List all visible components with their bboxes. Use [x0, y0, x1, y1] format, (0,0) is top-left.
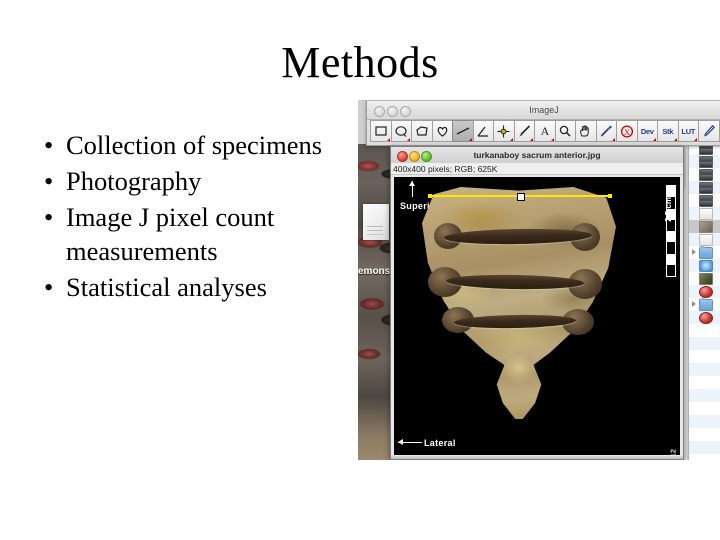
line-handle-end[interactable]	[608, 194, 612, 198]
page-title: Methods	[0, 38, 720, 88]
document-file-icon	[699, 208, 713, 220]
list-item-label: Collection of specimens	[66, 130, 322, 160]
straight-line-tool[interactable]	[452, 120, 474, 142]
lut-tool-label: LUT	[681, 127, 695, 136]
bullet-marker-icon: •	[44, 164, 53, 198]
list-item[interactable]	[691, 285, 719, 298]
imagej-titlebar[interactable]: ImageJ	[367, 101, 720, 120]
image-window-bottom-edge	[391, 456, 683, 459]
list-item: • Collection of specimens	[38, 128, 356, 162]
rectangle-tool[interactable]	[370, 120, 392, 142]
folder-icon	[699, 299, 713, 311]
tool-options-indicator-icon	[653, 138, 656, 141]
presentation-slide: Methods • Collection of specimens • Phot…	[0, 0, 720, 540]
list-item[interactable]	[691, 298, 719, 311]
sacrum-fossil-photo	[422, 187, 616, 417]
freehand-tool[interactable]	[432, 120, 454, 142]
line-handle-start[interactable]	[428, 194, 432, 198]
svg-text:A: A	[540, 125, 549, 137]
list-item[interactable]	[691, 207, 719, 220]
bullet-marker-icon: •	[44, 200, 53, 234]
screenshot-file-icon	[699, 182, 713, 194]
list-item: • Photography	[38, 164, 356, 198]
image-window-title: turkanaboy sacrum anterior.jpg	[391, 147, 683, 163]
disclosure-triangle-icon[interactable]	[691, 248, 697, 256]
list-item-label: Statistical analyses	[66, 272, 267, 302]
unused-tool[interactable]: X	[616, 120, 638, 142]
tool-options-indicator-icon	[407, 138, 410, 141]
point-tool[interactable]	[493, 120, 515, 142]
image-file-icon	[699, 221, 713, 233]
safari-icon	[699, 286, 713, 298]
list-item[interactable]	[691, 233, 719, 246]
imagej-toolbar[interactable]: A X Dev	[370, 120, 718, 142]
scale-bar-label: 2.5 cm	[664, 197, 673, 222]
screenshot-file-icon	[699, 156, 713, 168]
tool-options-indicator-icon	[612, 138, 615, 141]
bullet-list: • Collection of specimens • Photography …	[38, 128, 356, 306]
superior-arrow-icon	[412, 181, 413, 197]
safari-icon	[699, 312, 713, 324]
image-canvas[interactable]: Superior	[394, 177, 680, 455]
image-window-titlebar[interactable]: turkanaboy sacrum anterior.jpg	[391, 147, 683, 164]
photo-file-icon	[699, 273, 713, 285]
wand-tool[interactable]	[514, 120, 536, 142]
list-item[interactable]	[691, 194, 719, 207]
angle-tool[interactable]	[473, 120, 495, 142]
dropper-tool[interactable]	[596, 120, 618, 142]
embedded-screenshot: emonst	[358, 100, 720, 460]
list-item[interactable]	[691, 259, 719, 272]
lateral-label: Lateral	[424, 438, 456, 448]
tool-options-indicator-icon	[387, 138, 390, 141]
tool-options-indicator-icon	[510, 138, 513, 141]
list-item[interactable]	[691, 168, 719, 181]
screenshot-file-icon	[699, 169, 713, 181]
dev-tool-label: Dev	[641, 127, 654, 136]
list-item-label: Image J pixel count measurements	[66, 202, 274, 266]
line-handle-center[interactable]	[517, 193, 525, 201]
list-item: • Image J pixel count measurements	[38, 200, 356, 268]
imagej-main-window[interactable]: ImageJ	[366, 100, 720, 146]
svg-text:X: X	[624, 128, 630, 137]
tool-options-indicator-icon	[694, 138, 697, 141]
list-item[interactable]	[691, 181, 719, 194]
hand-tool[interactable]	[575, 120, 597, 142]
magnifier-tool[interactable]	[555, 120, 577, 142]
list-item: • Statistical analyses	[38, 270, 356, 304]
list-item[interactable]	[691, 155, 719, 168]
copyright-watermark: ©eFossils 2012	[668, 449, 677, 455]
list-item[interactable]	[691, 246, 719, 259]
pencil-tool[interactable]	[698, 120, 720, 142]
tool-options-indicator-icon	[469, 138, 472, 141]
screenshot-file-icon	[699, 195, 713, 207]
document-file-icon	[699, 234, 713, 246]
text-tool[interactable]: A	[534, 120, 556, 142]
list-item-label: Photography	[66, 166, 201, 196]
tool-options-indicator-icon	[674, 138, 677, 141]
stack-tool[interactable]: Stk	[657, 120, 679, 142]
oval-tool[interactable]	[391, 120, 413, 142]
imagej-image-window[interactable]: turkanaboy sacrum anterior.jpg 400x400 p…	[390, 146, 684, 460]
stack-tool-label: Stk	[662, 127, 673, 136]
lateral-arrow-icon	[398, 442, 422, 443]
tool-options-indicator-icon	[530, 138, 533, 141]
bullet-marker-icon: •	[44, 128, 53, 162]
imagej-window-title: ImageJ	[367, 101, 720, 119]
bullet-marker-icon: •	[44, 270, 53, 304]
list-item[interactable]	[691, 311, 719, 324]
document-thumbnail-icon	[363, 204, 389, 240]
list-item[interactable]	[691, 220, 719, 233]
folder-icon	[699, 247, 713, 259]
polygon-tool[interactable]	[411, 120, 433, 142]
image-info-status: 400x400 pixels; RGB; 625K	[391, 163, 683, 175]
dev-tool[interactable]: Dev	[637, 120, 659, 142]
measurement-line-selection[interactable]	[430, 195, 610, 197]
disk-icon	[699, 260, 713, 272]
disclosure-triangle-icon[interactable]	[691, 300, 697, 308]
lut-tool[interactable]: LUT	[678, 120, 700, 142]
tool-options-indicator-icon	[551, 138, 554, 141]
list-item[interactable]	[691, 272, 719, 285]
